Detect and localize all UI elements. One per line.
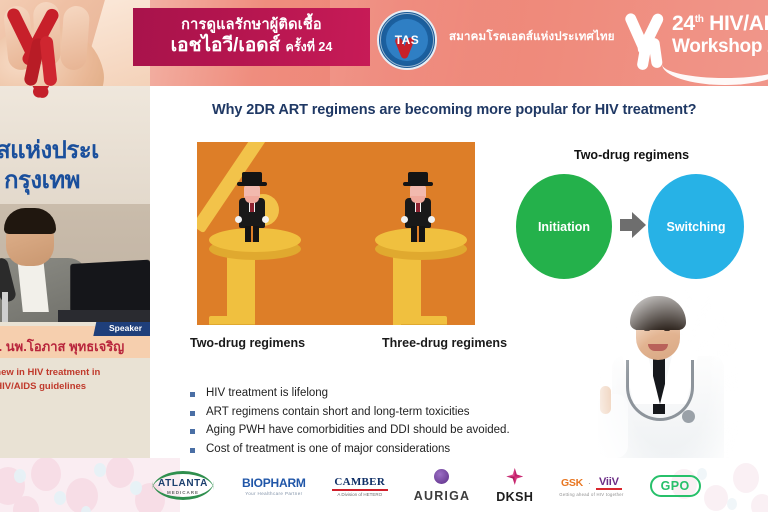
workshop-edition-sup: th [695, 14, 704, 25]
backdrop-text-line2: กรุงเทพ [4, 160, 80, 199]
speaker-shirt [17, 258, 49, 312]
figure-left-hat [242, 172, 262, 184]
sponsor-name: AURIGA [414, 489, 471, 503]
auriga-mark-icon [434, 469, 449, 484]
sponsor-logo-auriga[interactable]: AURIGA [414, 469, 471, 503]
speaker-topic: . new in HIV treatment in i HIV/AIDS gui… [0, 366, 150, 394]
tas-logo-inner: TAS [386, 19, 428, 61]
thai-title-line2: เอชไอวี/เอดส์ ครั้งที่ 24 [171, 35, 333, 57]
red-ribbon-icon [12, 2, 74, 86]
arrow-right-icon [620, 212, 646, 238]
sponsor-tagline: Your Healthcare Partner [245, 491, 302, 496]
sponsor-name: GSK [561, 477, 583, 489]
sponsor-logo-camber[interactable]: CAMBER A Division of HETERO [332, 476, 388, 497]
atlanta-arc-bottom [152, 481, 214, 500]
speaker-name: ม. นพ.โอภาส พุทธเจริญ [0, 336, 124, 357]
pedestal-right [375, 228, 467, 325]
node-initiation: Initiation [516, 174, 612, 279]
viiv-underline [596, 488, 622, 490]
figure-left-hand-left [235, 216, 242, 223]
screen-root: การดูแลรักษาผู้ติดเชื้อ เอชไอวี/เอดส์ คร… [0, 0, 768, 512]
dksh-mark-icon [506, 468, 523, 485]
figure-left-legs [245, 226, 259, 242]
sponsor-bar: ATLANTA MEDICARE BIOPHARM Your Healthcar… [0, 458, 768, 512]
figure-right-hand-left [401, 216, 408, 223]
speaker-badge: Speaker [93, 322, 150, 336]
list-item: Aging PWH have comorbidities and DDI sho… [190, 423, 510, 439]
workshop-edition-number: 24 [672, 12, 695, 35]
pedestal-right-foot-shadow [401, 324, 447, 325]
sponsor-logo-dksh[interactable]: DKSH [496, 468, 533, 504]
sponsor-logo-atlanta[interactable]: ATLANTA MEDICARE [150, 478, 216, 495]
node-switching-label: Switching [666, 220, 725, 234]
speaker-topic-line1: . new in HIV treatment in [0, 366, 150, 380]
thai-title-suffix: ครั้งที่ 24 [286, 40, 333, 54]
caption-three-drug: Three-drug regimens [382, 336, 507, 350]
association-name-thai: สมาคมโรคเอดส์แห่งประเทศไทย [449, 28, 615, 46]
camber-underline [332, 489, 388, 491]
bullet-text: Aging PWH have comorbidities and DDI sho… [206, 423, 510, 439]
sponsor-tagline: Getting ahead of HIV together [559, 492, 623, 497]
backdrop-ribbon-icon [22, 86, 78, 116]
tas-logo-text: TAS [395, 33, 420, 47]
sponsor-name: CAMBER [334, 476, 385, 488]
pedestal-left-foot-shadow [209, 324, 255, 325]
sponsor-logo-gsk-viiv[interactable]: GSK · ViiV Getting ahead of HIV together [559, 476, 623, 497]
bullet-square-icon [190, 429, 195, 434]
figure-right-beard [411, 196, 425, 203]
hand-ribbon-photo [0, 0, 150, 86]
figure-left [230, 172, 274, 242]
figure-right-legs [411, 226, 425, 242]
microphone-stand [2, 292, 8, 322]
workshop-title-line1: 24th HIV/AIDS [672, 12, 768, 36]
viiv-logo: ViiV [596, 476, 622, 490]
node-initiation-label: Initiation [538, 220, 590, 234]
workshop-swoosh [662, 60, 768, 85]
slide-bullet-list: HIV treatment is lifelong ART regimens c… [190, 386, 510, 458]
thai-title-main: เอชไอวี/เอดส์ [171, 35, 281, 56]
sponsor-name: GPO [661, 479, 690, 493]
laptop-base [58, 310, 150, 322]
gsk-viiv-separator: · [588, 478, 591, 488]
workshop-title-rest: HIV/AIDS [704, 12, 768, 35]
partner-name: ViiV [599, 476, 619, 488]
bullet-text: Cost of treatment is one of major consid… [206, 442, 450, 458]
regimen-illustration [197, 142, 475, 325]
diagram-heading: Two-drug regimens [574, 148, 689, 162]
laptop-screen [70, 260, 150, 317]
sponsor-name: DKSH [496, 490, 533, 504]
list-item: Cost of treatment is one of major consid… [190, 442, 510, 458]
tas-logo-icon: TAS [377, 10, 437, 70]
pedestal-left-column [227, 256, 255, 325]
thai-title-line1: การดูแลรักษาผู้ติดเชื้อ [181, 18, 322, 34]
speaker-name-bar: Speaker ม. นพ.โอภาส พุทธเจริญ [0, 322, 150, 362]
figure-right-hand-right [428, 216, 435, 223]
bullet-square-icon [190, 392, 195, 397]
sponsor-logo-gpo[interactable]: GPO [650, 475, 701, 497]
pedestal-left [209, 228, 301, 325]
sponsor-logo-row: ATLANTA MEDICARE BIOPHARM Your Healthcar… [150, 466, 710, 506]
speaker-video-feed[interactable]: สแห่งประเ กรุงเทพ [0, 86, 150, 322]
workshop-title-line2: Workshop 202 [672, 36, 768, 58]
node-switching: Switching [648, 174, 744, 279]
bullet-square-icon [190, 411, 195, 416]
bullet-square-icon [190, 448, 195, 453]
slide-title: Why 2DR ART regimens are becoming more p… [212, 102, 696, 118]
figure-left-hand-right [262, 216, 269, 223]
speaker-hair [4, 208, 56, 234]
bullet-text: HIV treatment is lifelong [206, 386, 328, 402]
thai-event-title: การดูแลรักษาผู้ติดเชื้อ เอชไอวี/เอดส์ คร… [133, 8, 370, 66]
figure-right [396, 172, 440, 242]
figure-left-beard [245, 196, 259, 203]
sponsor-logo-biopharm[interactable]: BIOPHARM Your Healthcare Partner [242, 476, 306, 496]
doctor-photo-fade [598, 290, 738, 458]
bullet-text: ART regimens contain short and long-term… [206, 405, 470, 421]
sponsor-tagline: A Division of HETERO [337, 492, 382, 497]
arrow-head [632, 212, 646, 238]
figure-right-hat [408, 172, 428, 184]
event-banner: การดูแลรักษาผู้ติดเชื้อ เอชไอวี/เอดส์ คร… [0, 0, 768, 86]
caption-two-drug: Two-drug regimens [190, 336, 305, 350]
doctor-photo [598, 290, 738, 458]
speaker-topic-line2: i HIV/AIDS guidelines [0, 380, 150, 394]
pedestal-right-column [393, 256, 421, 325]
workshop-logo: 24th HIV/AIDS Workshop 202 [628, 4, 768, 78]
list-item: ART regimens contain short and long-term… [190, 405, 510, 421]
speaker-badge-label: Speaker [109, 323, 142, 333]
gsk-viiv-row: GSK · ViiV [561, 476, 622, 490]
sponsor-name: BIOPHARM [242, 476, 306, 490]
speaker-panel: สแห่งประเ กรุงเทพ Speaker ม. นพ.โอภาส พุ… [0, 86, 150, 458]
list-item: HIV treatment is lifelong [190, 386, 510, 402]
